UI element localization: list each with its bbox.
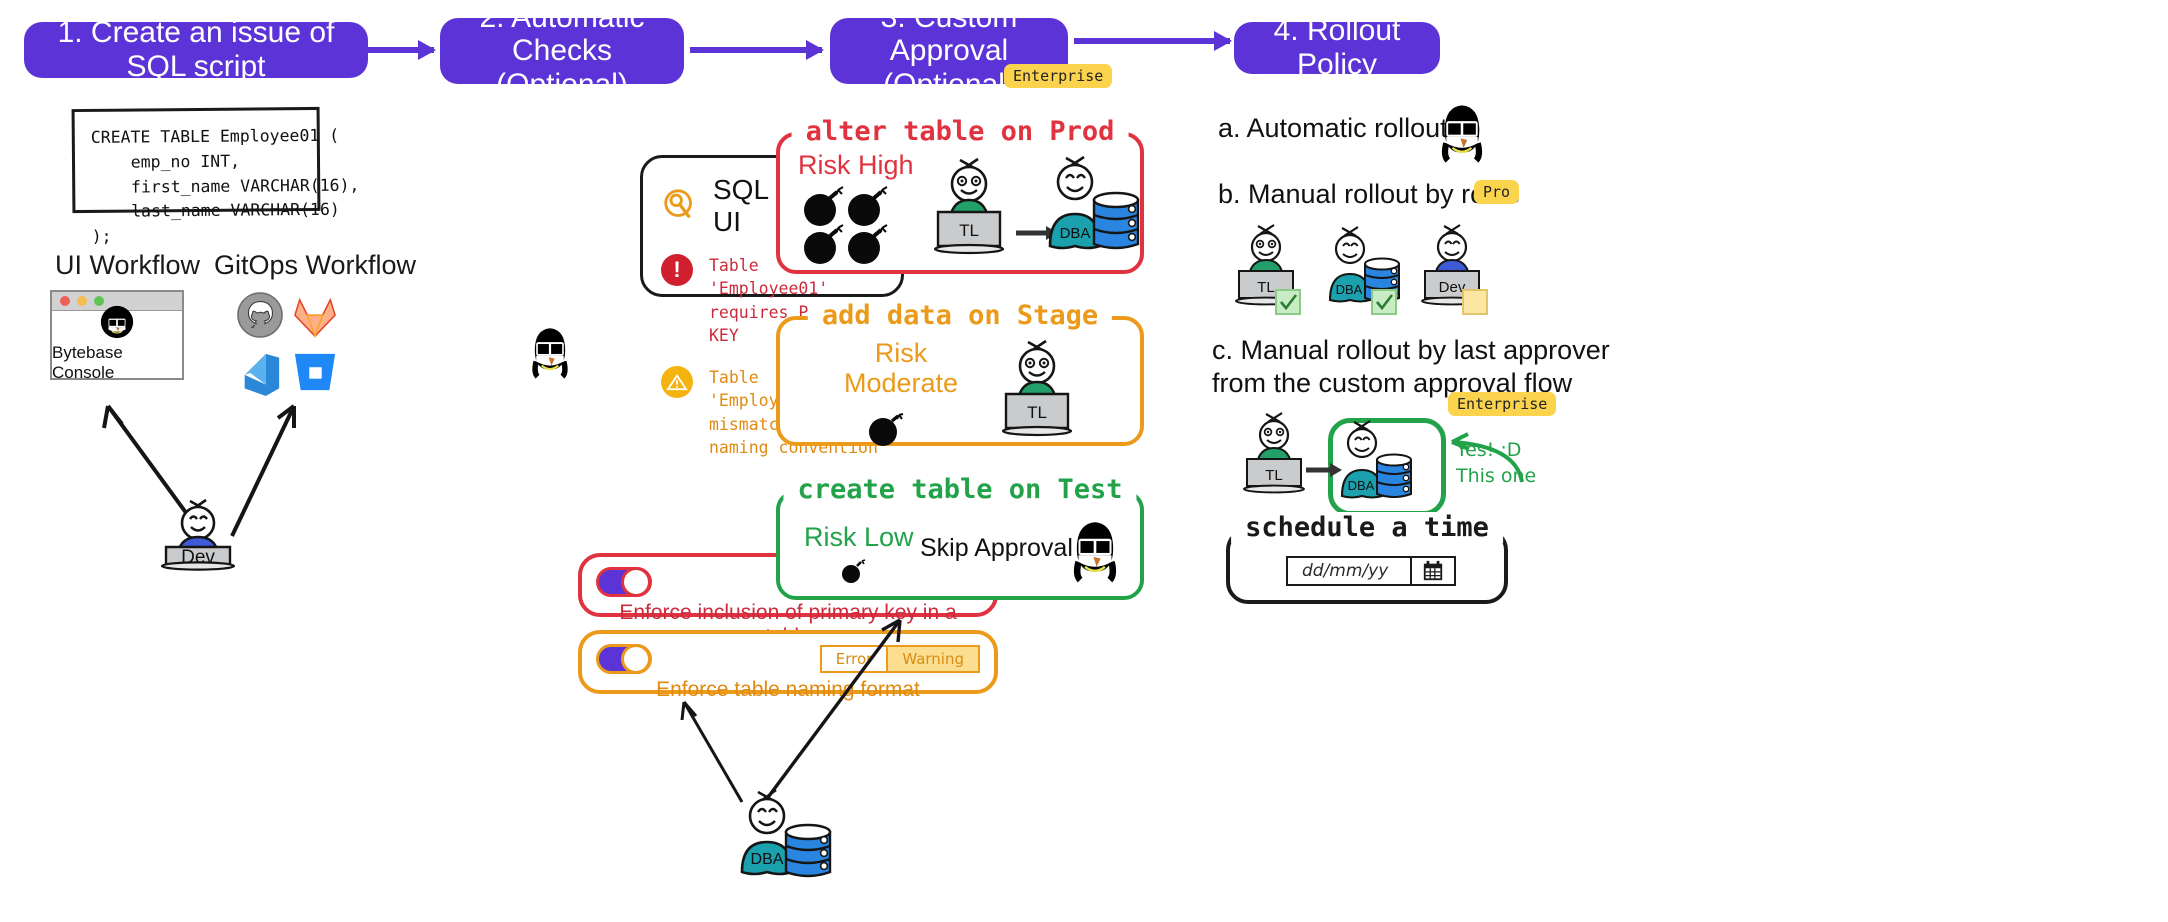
database-icon <box>1094 193 1138 248</box>
dba-label: DBA <box>1060 225 1091 242</box>
arrow-flow-tl-to-dba <box>1306 463 1342 477</box>
error-icon: ! <box>661 254 693 286</box>
arrow-dev-to-gitops <box>230 398 350 538</box>
bitbucket-icon[interactable] <box>292 350 338 399</box>
rollout-option-a-label: a. Automatic rollout <box>1218 112 1448 145</box>
roles-row: TL DBA Dev <box>1212 222 1532 318</box>
approved-checkbox <box>1276 290 1300 314</box>
approval-group-test-title: create table on Test <box>783 474 1136 505</box>
ui-workflow-heading: UI Workflow <box>55 250 200 281</box>
step-pill-4[interactable]: 4. Rollout Policy <box>1234 22 1440 74</box>
user-avatar-icon <box>100 305 134 339</box>
step-2-sublabel: (Optional) <box>496 68 628 102</box>
schedule-box-title: schedule a time <box>1231 512 1503 543</box>
step-3-sublabel: (Optional) <box>883 68 1015 102</box>
step-pill-1[interactable]: 1. Create an issue of SQL script <box>24 22 368 78</box>
svg-text:Dev: Dev <box>1439 279 1466 296</box>
dba-label: DBA <box>751 851 784 868</box>
risk-label-moderate: Risk Moderate <box>844 338 958 398</box>
approval-group-prod: alter table on Prod Risk High TL DBA <box>776 132 1144 274</box>
approval-group-stage-title: add data on Stage <box>808 300 1112 331</box>
dev-actor: Dev <box>148 495 248 569</box>
rollout-option-b-badge: Pro <box>1474 180 1519 204</box>
flow-actor-tl: TL <box>1244 413 1304 492</box>
warning-icon <box>661 366 693 398</box>
bomb-icon-group <box>800 188 886 270</box>
rule-toggle-table-naming[interactable] <box>596 644 652 674</box>
approval-group-prod-title: alter table on Prod <box>792 116 1129 147</box>
rollout-option-c-label: c. Manual rollout by last approver from … <box>1212 334 1610 400</box>
github-icon[interactable] <box>237 292 283 343</box>
search-icon <box>661 187 699 225</box>
arrow-dba-to-primary-key-rule <box>760 612 910 802</box>
role-dba: DBA <box>1330 227 1399 314</box>
minimize-icon[interactable] <box>77 296 87 306</box>
step-2-label: 2. Automatic Checks <box>456 1 668 68</box>
connector-1-2 <box>368 47 434 53</box>
risk-label-high: Risk High <box>798 150 914 180</box>
gitops-workflow-heading: GitOps Workflow <box>214 250 416 281</box>
toggle-knob <box>621 644 651 674</box>
approval-group-test: create table on Test Risk Low Skip Appro… <box>776 490 1144 600</box>
tl-label: TL <box>959 221 979 240</box>
step-4-label: 4. Rollout Policy <box>1250 14 1424 81</box>
tl-actor-prod: TL <box>928 154 1024 266</box>
role-dev: Dev <box>1422 225 1487 314</box>
svg-text:TL: TL <box>1027 403 1047 422</box>
step-3-label: 3. Custom Approval <box>846 1 1052 68</box>
rollout-option-c-badge: Enterprise <box>1448 392 1556 416</box>
reviewer-avatar-icon <box>522 320 578 378</box>
pending-checkbox <box>1463 290 1487 314</box>
automatic-rollout-avatar-icon <box>1430 96 1494 162</box>
database-icon <box>786 825 830 876</box>
dev-label: Dev <box>181 547 215 568</box>
flow-actor-dba: DBA <box>1342 421 1411 498</box>
gitlab-icon[interactable] <box>292 296 338 345</box>
azure-devops-icon[interactable] <box>237 350 283 401</box>
approved-checkbox <box>1372 290 1396 314</box>
step-3-plan-badge: Enterprise <box>1004 64 1112 88</box>
step-pill-2[interactable]: 2. Automatic Checks (Optional) <box>440 18 684 84</box>
svg-text:TL: TL <box>1257 279 1275 296</box>
annotation-text: Yes! :D This one <box>1456 438 1536 489</box>
skip-approval-label: Skip Approval <box>920 534 1073 563</box>
connector-2-3 <box>690 47 822 53</box>
bytebase-console-window[interactable]: Bytebase Console <box>50 290 184 380</box>
browser-caption: Bytebase Console <box>52 343 182 383</box>
svg-text:DBA: DBA <box>1336 282 1363 297</box>
sql-script-card: CREATE TABLE Employee01 ( emp_no INT, fi… <box>72 107 321 213</box>
step-1-label: 1. Create an issue of SQL script <box>40 16 352 83</box>
date-input-value[interactable]: dd/mm/yy <box>1288 558 1410 584</box>
risk-label-low: Risk Low <box>804 522 914 552</box>
schedule-box: schedule a time dd/mm/yy <box>1226 528 1508 604</box>
date-input[interactable]: dd/mm/yy <box>1286 556 1456 586</box>
window-body: Bytebase Console <box>52 311 182 377</box>
flow-row: TL DBA <box>1228 410 1458 522</box>
connector-3-4 <box>1074 38 1230 44</box>
approval-group-stage: add data on Stage Risk Moderate TL <box>776 316 1144 446</box>
bomb-icon <box>840 560 866 584</box>
svg-text:TL: TL <box>1265 467 1283 484</box>
tl-actor-stage: TL <box>996 336 1092 448</box>
role-tl: TL <box>1236 225 1300 314</box>
toggle-knob <box>621 567 651 597</box>
svg-text:DBA: DBA <box>1348 478 1375 493</box>
dba-actor-prod: DBA <box>1042 150 1148 266</box>
approver-avatar-icon <box>1062 512 1128 582</box>
calendar-icon[interactable] <box>1410 558 1454 584</box>
bomb-icon <box>868 414 904 446</box>
close-icon[interactable] <box>60 296 70 306</box>
rule-toggle-primary-key[interactable] <box>596 567 652 597</box>
dba-actor: DBA <box>720 776 840 916</box>
